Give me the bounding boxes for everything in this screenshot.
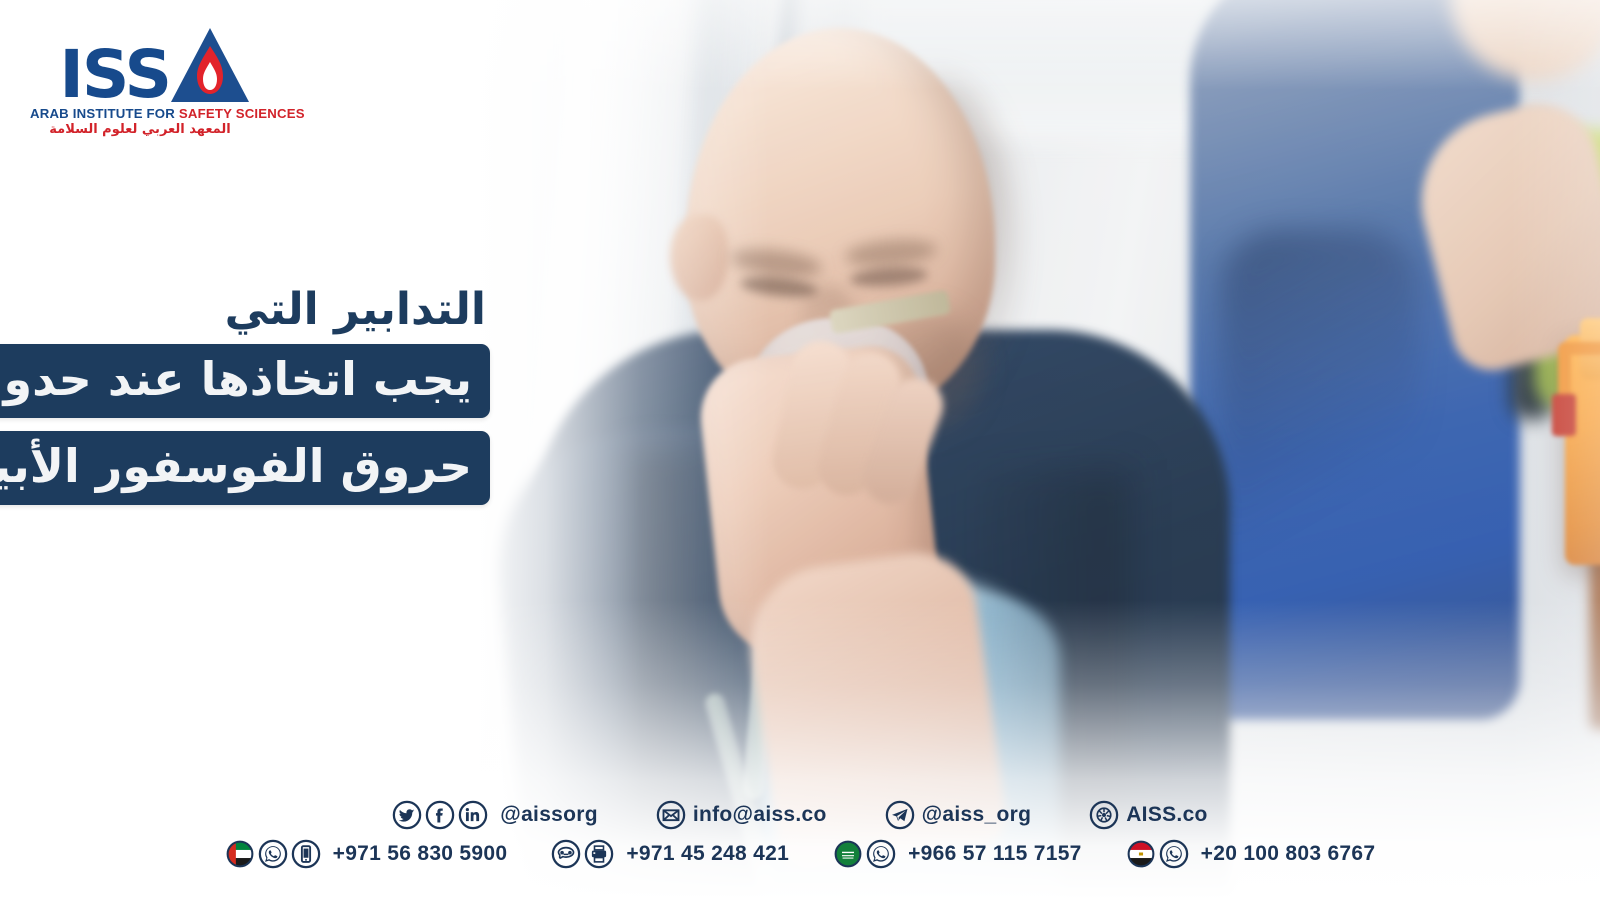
- mobile-phone-icon[interactable]: [291, 839, 321, 869]
- footer-phone-uae-mobile[interactable]: +971 56 830 5900: [225, 839, 508, 869]
- footer-email[interactable]: info@aiss.co: [656, 800, 827, 830]
- ksa-contact-icon-group: [833, 839, 896, 869]
- telegram-handle-text: @aiss_org: [922, 803, 1032, 827]
- headline-line-2: يجب اتخاذها عند حدوث: [0, 344, 490, 418]
- aiss-logo[interactable]: ISS ARAB INSTITUTE FOR SAFETY SCIENCES ا…: [30, 22, 250, 142]
- footer-phone-egypt[interactable]: +20 100 803 6767: [1126, 839, 1376, 869]
- logo-tagline-en-part1: ARAB INSTITUTE FOR: [30, 106, 179, 121]
- footer-phone-ksa[interactable]: +966 57 115 7157: [833, 839, 1082, 869]
- footer-row-phones: +971 56 830 5900: [0, 839, 1600, 869]
- envelope-icon[interactable]: [656, 800, 686, 830]
- email-text: info@aiss.co: [693, 803, 827, 827]
- headline-row-2: يجب اتخاذها عند حدوث: [0, 344, 490, 431]
- egypt-contact-icon-group: [1126, 839, 1189, 869]
- contact-footer: @aissorg info@aiss.co @aiss_org: [0, 800, 1600, 878]
- headline-block: التدابير التي يجب اتخاذها عند حدوث حروق …: [0, 288, 490, 518]
- hero-photo: [430, 0, 1600, 900]
- footer-website[interactable]: AISS.co: [1089, 800, 1207, 830]
- fax-icon[interactable]: [584, 839, 614, 869]
- whatsapp-icon[interactable]: [866, 839, 896, 869]
- website-text: AISS.co: [1126, 803, 1207, 827]
- telephone-icon[interactable]: [551, 839, 581, 869]
- social-handle-text: @aissorg: [500, 803, 598, 827]
- phone-uae-landline-text: +971 45 248 421: [626, 842, 789, 866]
- footer-row-handles: @aissorg info@aiss.co @aiss_org: [0, 800, 1600, 830]
- footer-social-handles[interactable]: @aissorg: [392, 800, 598, 830]
- headline-line-3: حروق الفوسفور الأبيض: [0, 431, 490, 505]
- logo-wordmark: ISS: [59, 47, 170, 104]
- logo-tagline-ar: المعهد العربي لعلوم السلامة: [30, 122, 250, 137]
- social-icon-group: [392, 800, 488, 830]
- whatsapp-icon[interactable]: [1159, 839, 1189, 869]
- headline-row-3: حروق الفوسفور الأبيض: [0, 431, 490, 518]
- footer-phone-uae-landline[interactable]: +971 45 248 421: [551, 839, 789, 869]
- facebook-icon[interactable]: [425, 800, 455, 830]
- uae-flag-icon: [225, 839, 255, 869]
- phone-ksa-text: +966 57 115 7157: [908, 842, 1082, 866]
- telegram-icon[interactable]: [885, 800, 915, 830]
- globe-icon[interactable]: [1089, 800, 1119, 830]
- twitter-icon[interactable]: [392, 800, 422, 830]
- poster-canvas: ISS ARAB INSTITUTE FOR SAFETY SCIENCES ا…: [0, 0, 1600, 900]
- flame-triangle-icon: [170, 26, 250, 104]
- footer-telegram[interactable]: @aiss_org: [885, 800, 1032, 830]
- logo-tagline-en: ARAB INSTITUTE FOR SAFETY SCIENCES: [30, 106, 250, 121]
- whatsapp-icon[interactable]: [258, 839, 288, 869]
- saudi-flag-icon: [833, 839, 863, 869]
- phone-egypt-text: +20 100 803 6767: [1201, 842, 1376, 866]
- landline-icon-group: [551, 839, 614, 869]
- phone-uae-mobile-text: +971 56 830 5900: [333, 842, 508, 866]
- logo-tagline-en-part2: SAFETY SCIENCES: [179, 106, 305, 121]
- uae-contact-icon-group: [225, 839, 321, 869]
- egypt-flag-icon: [1126, 839, 1156, 869]
- headline-line-1: التدابير التي: [0, 288, 490, 332]
- linkedin-icon[interactable]: [458, 800, 488, 830]
